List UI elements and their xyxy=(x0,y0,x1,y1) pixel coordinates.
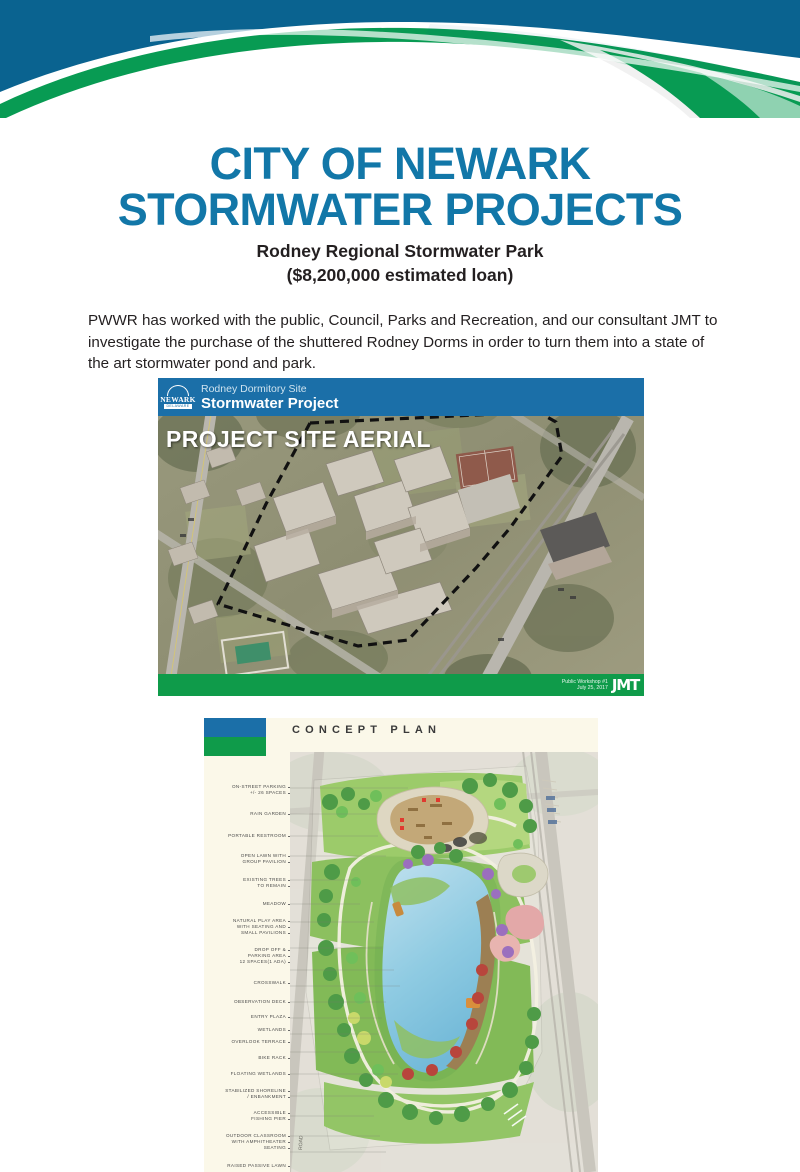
title-line-1: CITY OF NEWARK xyxy=(0,141,800,187)
aerial-headline: PROJECT SITE AERIAL xyxy=(166,426,431,453)
body-paragraph: PWWR has worked with the public, Council… xyxy=(88,310,718,375)
concept-label: WETLANDS xyxy=(258,1027,286,1033)
swatch-green xyxy=(204,737,266,756)
concept-label: +/- 26 SPACES xyxy=(250,790,286,796)
credit-line-2: July 25, 2017 xyxy=(562,685,608,691)
concept-label: 12 SPACES(1 ADA) xyxy=(240,959,286,965)
slide-credit: Public Workshop #1 July 25, 2017 xyxy=(562,679,608,692)
concept-plan-panel: CONCEPT PLAN ON-STREET PARKING+/- 26 SPA… xyxy=(204,718,598,1172)
concept-color-swatches xyxy=(204,718,266,756)
concept-label: ENTRY PLAZA xyxy=(251,1014,286,1020)
concept-label: OBSERVATION DECK xyxy=(234,999,286,1005)
title-line-2: STORMWATER PROJECTS xyxy=(0,187,800,233)
concept-label: / ENBANKMENT xyxy=(247,1094,286,1100)
concept-label: CROSSWALK xyxy=(254,980,286,986)
jmt-logo: JMT xyxy=(612,676,639,694)
concept-label: RAISED PASSIVE LAWN xyxy=(227,1163,286,1169)
newark-city-logo: NEWARK DELAWARE xyxy=(161,380,195,414)
concept-label: SEATING xyxy=(264,1145,286,1151)
swatch-blue xyxy=(204,718,266,737)
concept-label: OVERLOOK TERRACE xyxy=(231,1039,286,1045)
concept-plan-title: CONCEPT PLAN xyxy=(292,724,441,736)
aerial-bar-line-1: Rodney Dormitory Site xyxy=(201,383,339,395)
aerial-title-bar: NEWARK DELAWARE Rodney Dormitory Site St… xyxy=(158,378,644,416)
concept-label: PORTABLE RESTROOM xyxy=(228,833,286,839)
aerial-footer-bar: Public Workshop #1 July 25, 2017 JMT xyxy=(158,674,644,696)
aerial-bar-line-2: Stormwater Project xyxy=(201,395,339,412)
page-title: CITY OF NEWARK STORMWATER PROJECTS xyxy=(0,141,800,233)
subtitle-line-2: ($8,200,000 estimated loan) xyxy=(0,263,800,287)
concept-label: FISHING PIER xyxy=(251,1116,286,1122)
logo-state-name: DELAWARE xyxy=(164,404,191,409)
concept-label: RAIN GARDEN xyxy=(250,811,286,817)
concept-label: FLOATING WETLANDS xyxy=(231,1071,286,1077)
project-site-aerial-image: NEWARK DELAWARE Rodney Dormitory Site St… xyxy=(158,378,644,696)
concept-label: SMALL PAVILIONS xyxy=(241,930,286,936)
concept-label: GROUP PAVILION xyxy=(243,859,286,865)
concept-label: MEADOW xyxy=(263,901,286,907)
street-label: ROAD xyxy=(298,1135,305,1150)
concept-label: BIKE RACK xyxy=(258,1055,286,1061)
header-wave-banner xyxy=(0,0,800,118)
logo-city-name: NEWARK xyxy=(160,396,196,404)
project-subtitle: Rodney Regional Stormwater Park ($8,200,… xyxy=(0,239,800,287)
subtitle-line-1: Rodney Regional Stormwater Park xyxy=(0,239,800,263)
concept-plan-rendering: ROAD xyxy=(290,752,598,1172)
concept-label: TO REMAIN xyxy=(257,883,286,889)
